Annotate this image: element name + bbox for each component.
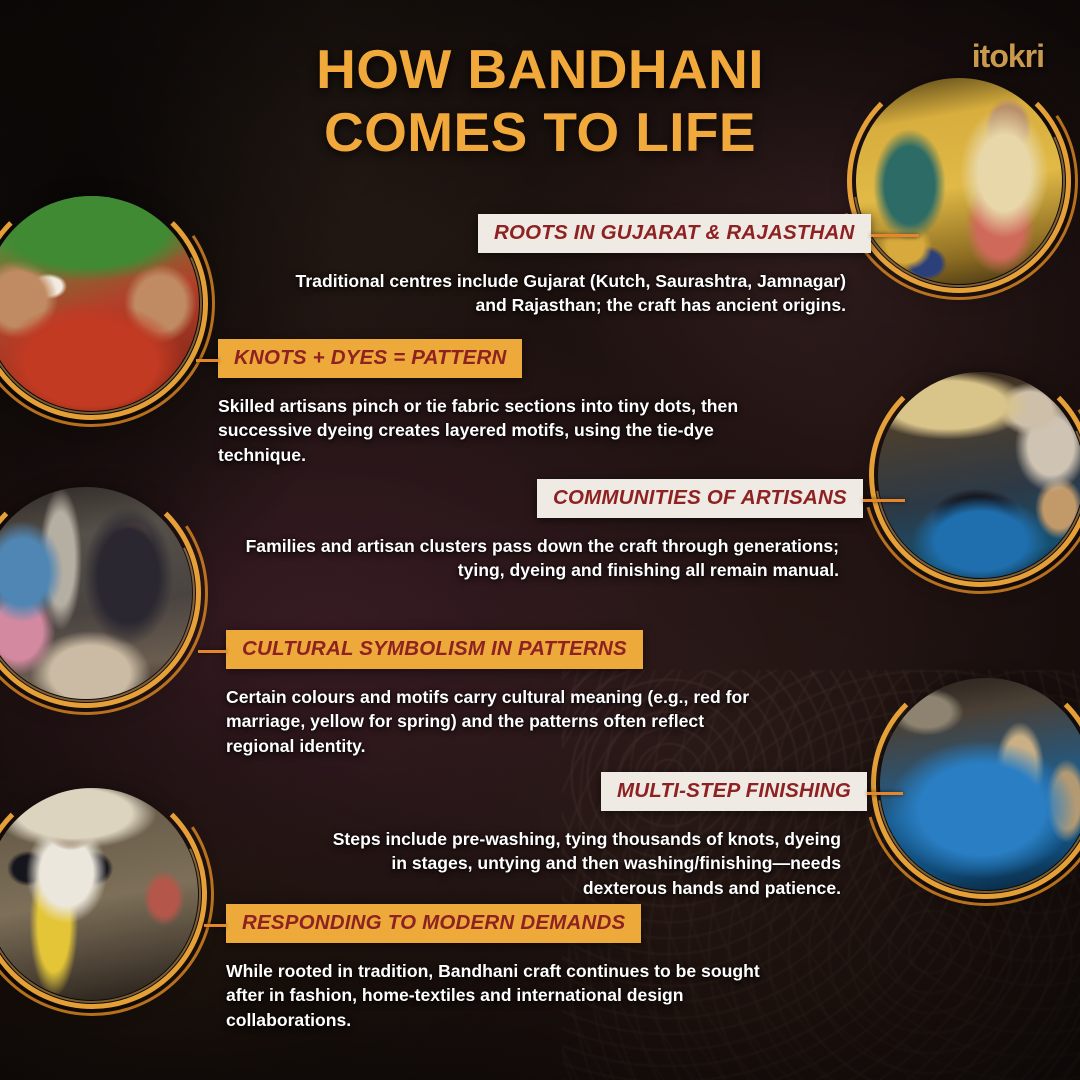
section-symbolism: CULTURAL SYMBOLISM IN PATTERNS Certain c… bbox=[226, 630, 786, 758]
section-header-roots[interactable]: ROOTS IN GUJARAT & RAJASTHAN bbox=[478, 214, 871, 253]
section-header-knots[interactable]: KNOTS + DYES = PATTERN bbox=[218, 339, 522, 378]
connector-line-symbolism bbox=[198, 650, 226, 653]
section-communities: COMMUNITIES OF ARTISANS Families and art… bbox=[537, 479, 847, 583]
section-header-communities[interactable]: COMMUNITIES OF ARTISANS bbox=[537, 479, 863, 518]
photo-circle-lifting-yellow-fabric bbox=[0, 788, 198, 1000]
section-finishing: MULTI-STEP FINISHING Steps include pre-w… bbox=[601, 772, 847, 900]
photo-image-women-tying-yellow-wall bbox=[856, 78, 1062, 284]
section-header-knots-label: KNOTS + DYES = PATTERN bbox=[234, 346, 506, 369]
photo-image-hands-tying-red-fabric bbox=[0, 196, 199, 411]
photo-frame bbox=[856, 78, 1062, 284]
section-body-communities: Families and artisan clusters pass down … bbox=[231, 534, 839, 583]
photo-frame bbox=[878, 372, 1080, 578]
photo-frame bbox=[0, 788, 198, 1000]
photo-image-lifting-yellow-fabric bbox=[0, 788, 198, 1000]
page-title-line-1: HOW BANDHANI bbox=[316, 38, 764, 100]
photo-circle-dyer-blue-tub bbox=[878, 372, 1080, 578]
photo-frame bbox=[880, 678, 1080, 890]
section-body-roots: Traditional centres include Gujarat (Kut… bbox=[286, 269, 846, 318]
section-body-finishing: Steps include pre-washing, tying thousan… bbox=[315, 827, 841, 900]
section-header-symbolism-label: CULTURAL SYMBOLISM IN PATTERNS bbox=[242, 637, 627, 660]
photo-frame bbox=[0, 196, 199, 411]
connector-line-communities bbox=[863, 499, 905, 502]
section-body-symbolism: Certain colours and motifs carry cultura… bbox=[226, 685, 771, 758]
connector-line-roots bbox=[871, 234, 919, 237]
photo-image-indigo-dye-vat bbox=[880, 678, 1080, 890]
section-header-communities-label: COMMUNITIES OF ARTISANS bbox=[553, 486, 847, 509]
photo-circle-women-tying-yellow-wall bbox=[856, 78, 1062, 284]
section-knots: KNOTS + DYES = PATTERN Skilled artisans … bbox=[218, 339, 778, 467]
connector-line-finishing bbox=[867, 792, 903, 795]
brand-logo-text: itokri bbox=[972, 38, 1044, 74]
section-header-roots-label: ROOTS IN GUJARAT & RAJASTHAN bbox=[494, 221, 855, 244]
section-body-knots: Skilled artisans pinch or tie fabric sec… bbox=[218, 394, 758, 467]
brand-logo-itokri[interactable]: itokri bbox=[972, 38, 1044, 75]
section-modern: RESPONDING TO MODERN DEMANDS While roote… bbox=[226, 904, 786, 1032]
section-header-symbolism[interactable]: CULTURAL SYMBOLISM IN PATTERNS bbox=[226, 630, 643, 669]
photo-circle-hands-tying-red-fabric bbox=[0, 196, 199, 411]
photo-image-women-seated-pale-fabric bbox=[0, 487, 192, 699]
section-roots: ROOTS IN GUJARAT & RAJASTHAN Traditional… bbox=[478, 214, 846, 318]
photo-circle-indigo-dye-vat bbox=[880, 678, 1080, 890]
photo-image-dyer-blue-tub bbox=[878, 372, 1080, 578]
section-header-finishing-label: MULTI-STEP FINISHING bbox=[617, 779, 851, 802]
section-header-finishing[interactable]: MULTI-STEP FINISHING bbox=[601, 772, 867, 811]
section-body-modern: While rooted in tradition, Bandhani craf… bbox=[226, 959, 786, 1032]
section-header-modern[interactable]: RESPONDING TO MODERN DEMANDS bbox=[226, 904, 641, 943]
photo-frame bbox=[0, 487, 192, 699]
section-header-modern-label: RESPONDING TO MODERN DEMANDS bbox=[242, 911, 625, 934]
photo-circle-women-seated-pale-fabric bbox=[0, 487, 192, 699]
connector-line-modern bbox=[204, 924, 226, 927]
connector-line-knots bbox=[196, 359, 218, 362]
